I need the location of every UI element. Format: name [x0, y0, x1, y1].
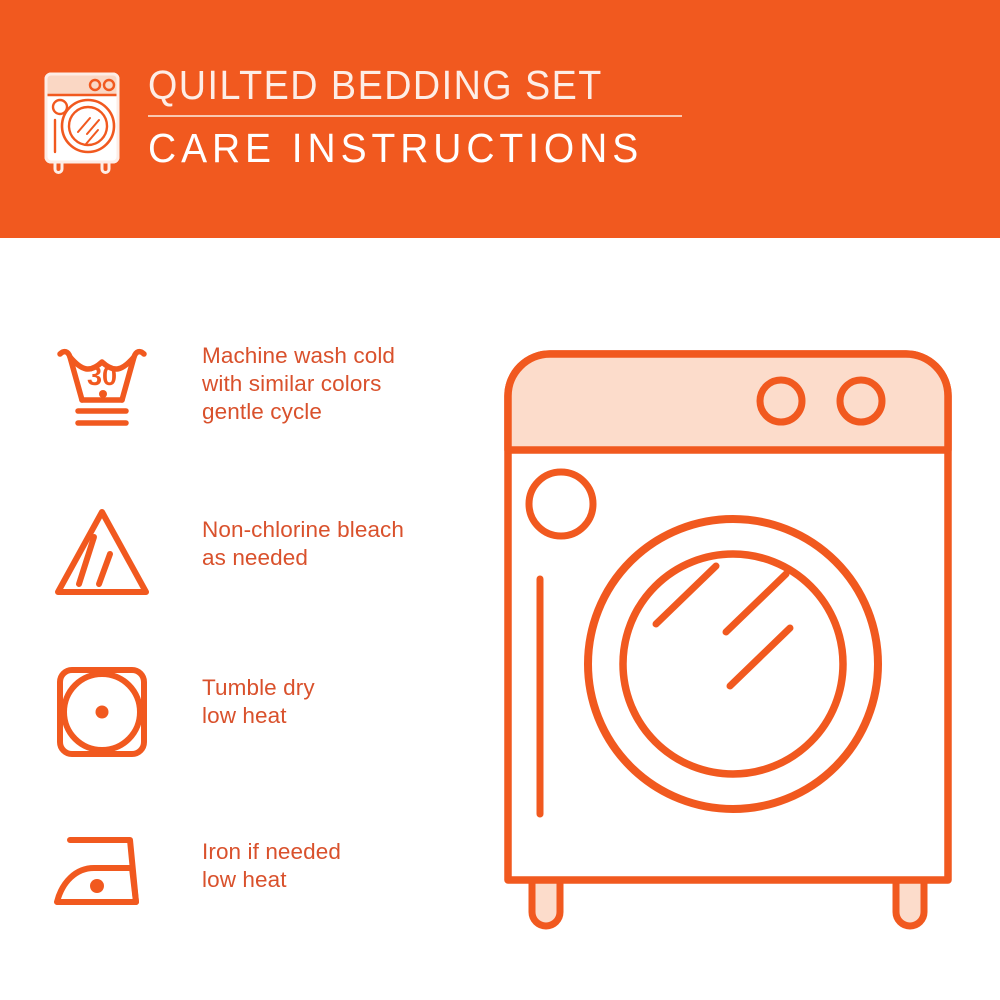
care-item-iron-label: Iron if needed low heat — [202, 810, 341, 894]
machine-wash-icon: 30 — [48, 338, 156, 446]
care-item-tumble-dry: Tumble dry low heat — [48, 652, 468, 810]
title-divider — [148, 115, 682, 117]
non-chlorine-bleach-icon — [48, 500, 156, 608]
care-item-machine-wash: 30 Machine wash cold with similar colors… — [48, 336, 468, 494]
header-title-block: QUILTED BEDDING SET CARE INSTRUCTIONS — [148, 62, 682, 171]
care-instruction-list: 30 Machine wash cold with similar colors… — [48, 336, 468, 968]
header-content: QUILTED BEDDING SET CARE INSTRUCTIONS — [40, 62, 682, 174]
page-subtitle: CARE INSTRUCTIONS — [148, 125, 655, 171]
care-item-bleach-label: Non-chlorine bleach as needed — [202, 494, 404, 572]
washing-machine-icon — [40, 70, 132, 174]
care-item-iron: Iron if needed low heat — [48, 810, 468, 968]
care-item-bleach: Non-chlorine bleach as needed — [48, 494, 468, 652]
content-area: 30 Machine wash cold with similar colors… — [0, 238, 1000, 1000]
care-item-tumble-dry-label: Tumble dry low heat — [202, 652, 315, 730]
tumble-dry-icon — [48, 658, 156, 766]
header-banner: QUILTED BEDDING SET CARE INSTRUCTIONS — [0, 0, 1000, 238]
wash-temperature-label: 30 — [87, 361, 117, 391]
front-load-washing-machine-illustration — [488, 334, 968, 944]
care-item-machine-wash-label: Machine wash cold with similar colors ge… — [202, 336, 395, 426]
page-title: QUILTED BEDDING SET — [148, 62, 639, 108]
iron-icon — [48, 822, 156, 930]
